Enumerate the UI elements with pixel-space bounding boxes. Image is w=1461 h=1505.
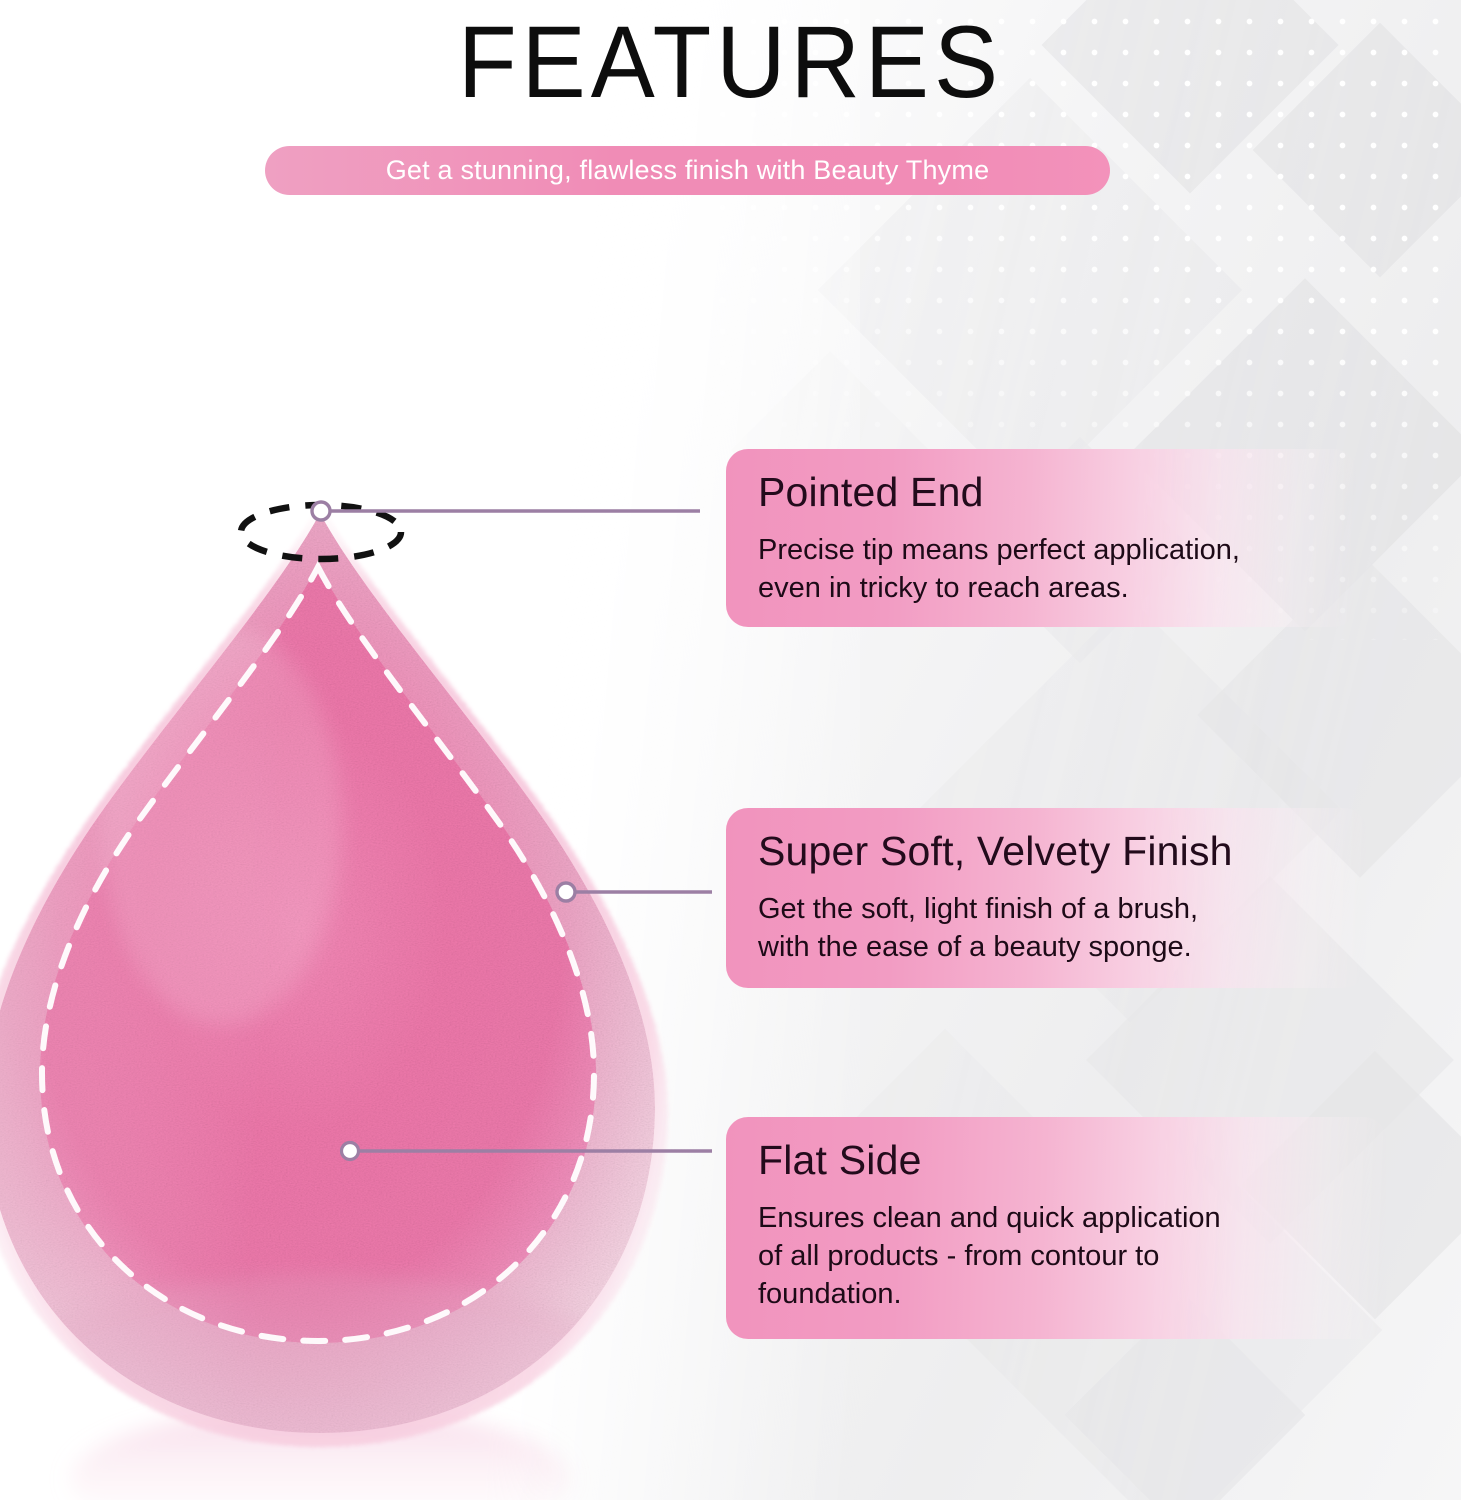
feature-heading: Pointed End — [758, 467, 1356, 517]
page-title: FEATURES — [0, 8, 1461, 118]
subtitle-text: Get a stunning, flawless finish with Bea… — [386, 155, 990, 186]
feature-card-super-soft-velvety-finish: Super Soft, Velvety Finish Get the soft,… — [726, 808, 1366, 988]
feature-card-pointed-end: Pointed End Precise tip means perfect ap… — [726, 449, 1356, 627]
sponge-highlight — [102, 625, 342, 1025]
feature-body: Ensures clean and quick application of a… — [758, 1199, 1386, 1313]
feature-body: Get the soft, light finish of a brush, w… — [758, 890, 1366, 966]
subtitle-banner: Get a stunning, flawless finish with Bea… — [265, 146, 1110, 195]
feature-heading: Flat Side — [758, 1135, 1386, 1185]
sponge-illustration — [0, 495, 690, 1500]
product-image-makeup-sponge — [0, 495, 690, 1500]
feature-card-flat-side: Flat Side Ensures clean and quick applic… — [726, 1117, 1386, 1339]
feature-body: Precise tip means perfect application, e… — [758, 531, 1356, 607]
feature-heading: Super Soft, Velvety Finish — [758, 826, 1366, 876]
